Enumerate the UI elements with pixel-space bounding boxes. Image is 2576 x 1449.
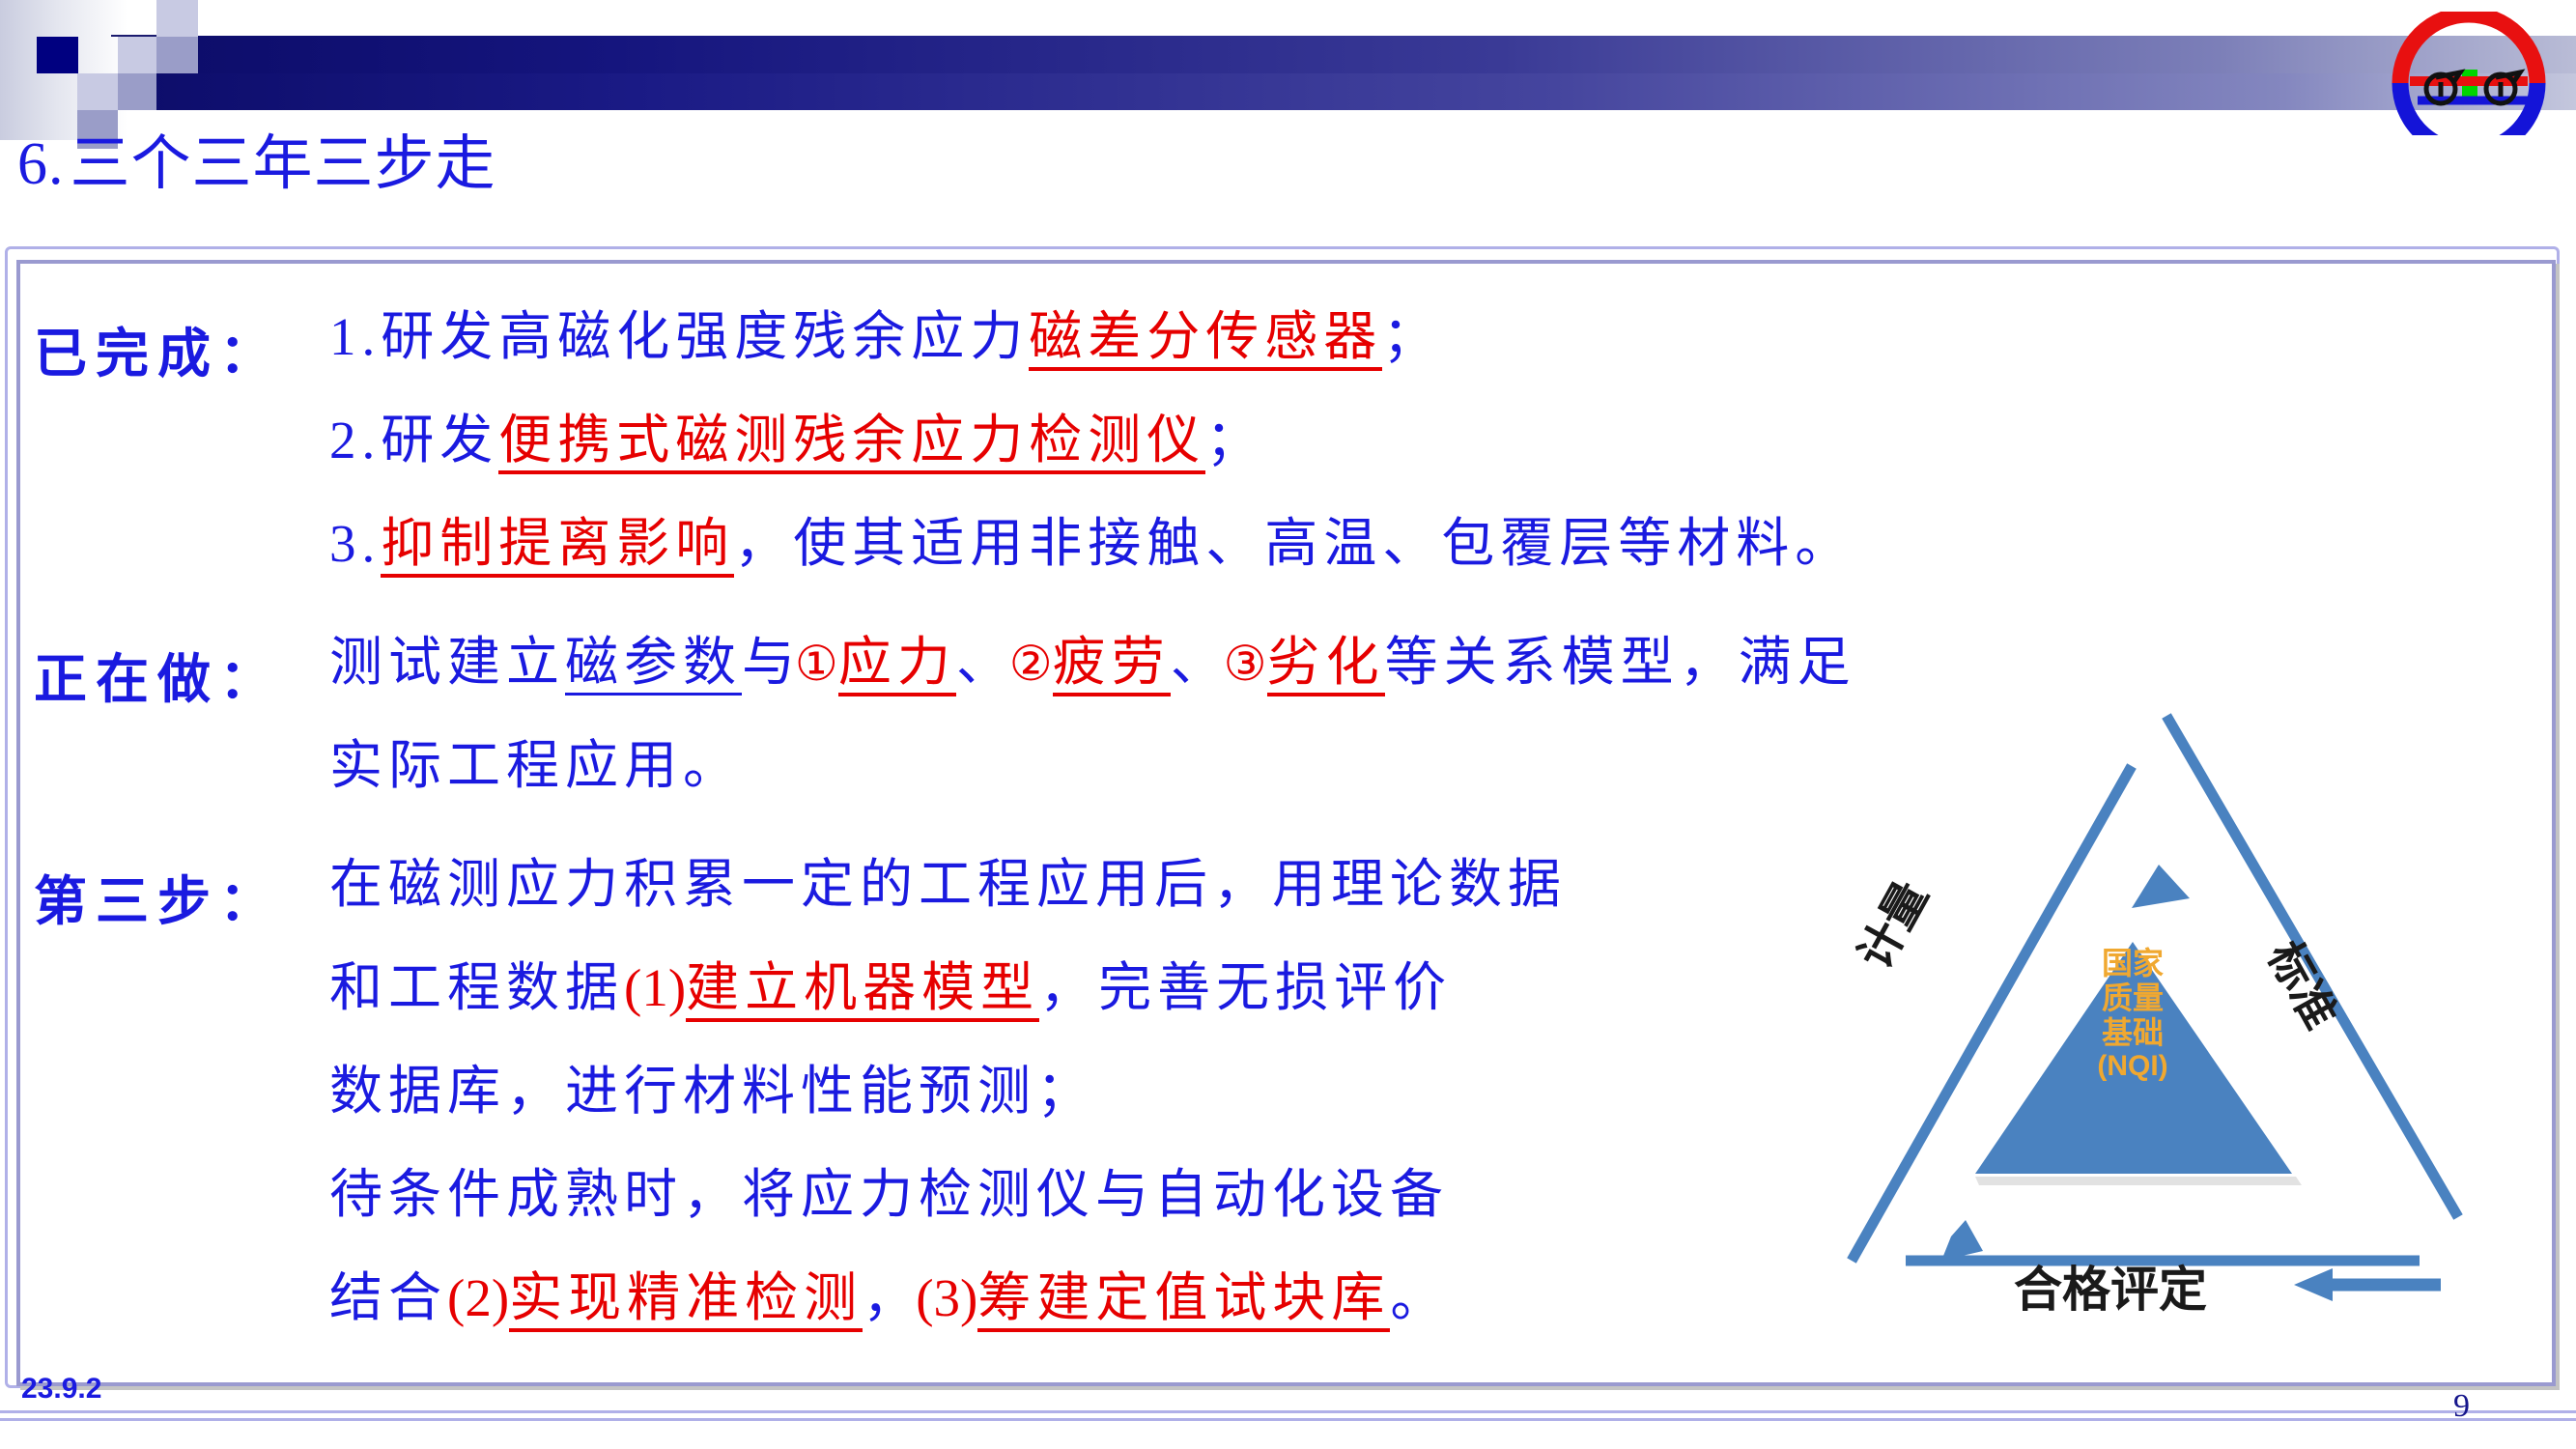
header-square-navy [37, 37, 78, 73]
ongoing-item-1: 应力 [838, 633, 956, 696]
institute-emblem-logo [2383, 12, 2555, 135]
step3-marker-1: (1) [624, 958, 686, 1017]
nqi-triangle-diagram: 计量 标准 合格评定 国家 质量 基础 (NQI) [1792, 710, 2468, 1309]
ongoing-circle-2-icon: ② [1009, 636, 1053, 692]
step3-marker-3: (3) [916, 1268, 977, 1327]
completed-line-2-punct: ； [1205, 411, 1259, 469]
ongoing-circle-1-icon: ① [795, 636, 838, 692]
ongoing-line-1: 测试建立磁参数与①应力、②疲劳、③劣化等关系模型，满足 [329, 636, 1856, 689]
ongoing-sep-2: 、 [1171, 633, 1224, 692]
footer-page-number: 9 [2453, 1388, 2470, 1425]
header-square-light-a [118, 37, 156, 73]
ongoing-item-3: 劣化 [1267, 633, 1385, 696]
step3-comma: ， [863, 1268, 916, 1327]
footer-rule-top [0, 1410, 2576, 1413]
header-square-light-b [77, 73, 118, 110]
arrow-down-right-icon [2132, 865, 2190, 908]
completed-line-1-text-a: 研发高磁化强度残余应力 [381, 307, 1029, 366]
step3-highlight-1: 建立机器模型 [686, 958, 1039, 1022]
step3-highlight-2: 实现精准检测 [509, 1268, 863, 1332]
ongoing-item-2: 疲劳 [1053, 633, 1171, 696]
step3-line-2-text-b: ，完善无损评价 [1039, 958, 1452, 1017]
section-label-ongoing: 正在做： [34, 636, 281, 713]
completed-line-3-index: 3. [329, 514, 381, 573]
nqi-core-line-3: 基础 [2012, 1016, 2253, 1051]
completed-line-1-index: 1. [329, 307, 381, 366]
step3-marker-2: (2) [447, 1268, 509, 1327]
step3-line-4-text: 待条件成熟时，将应力检测仪与自动化设备 [329, 1165, 1449, 1224]
ongoing-underline-term: 磁参数 [565, 633, 742, 696]
step3-highlight-3: 筹建定值试块库 [977, 1268, 1390, 1332]
completed-line-1-punct: ； [1382, 307, 1435, 366]
nqi-core-line-2: 质量 [2012, 981, 2253, 1016]
slide-title-text: 三个三年三步走 [71, 131, 496, 197]
header-gradient-bar-lower [147, 73, 2576, 110]
completed-line-3-text: ，使其适用非接触、高温、包覆层等材料。 [734, 514, 1854, 573]
step3-line-3: 数据库，进行材料性能预测； [329, 1065, 1095, 1118]
ongoing-text-a: 测试建立 [329, 633, 565, 692]
step3-line-1-text: 在磁测应力积累一定的工程应用后，用理论数据 [329, 855, 1567, 914]
header-square-medium-b [118, 73, 156, 110]
step3-line-1: 在磁测应力积累一定的工程应用后，用理论数据 [329, 858, 1567, 911]
completed-line-2-highlight: 便携式磁测残余应力检测仪 [498, 411, 1205, 474]
step3-line-2-text-a: 和工程数据 [329, 958, 624, 1017]
header-square-light-top [156, 0, 198, 37]
completed-line-1-highlight: 磁差分传感器 [1029, 307, 1382, 371]
completed-line-2-text-a: 研发 [381, 411, 498, 469]
ongoing-sep-1: 、 [956, 633, 1009, 692]
ongoing-circle-3-icon: ③ [1224, 636, 1267, 692]
completed-line-2: 2.研发便携式磁测残余应力检测仪； [329, 413, 1259, 467]
completed-line-2-index: 2. [329, 411, 381, 469]
step3-line-5-text-a: 结合 [329, 1268, 447, 1327]
arrow-up-left-icon [1941, 1220, 1983, 1261]
slide-title: 6.三个三年三步走 [17, 114, 496, 201]
completed-line-3-highlight: 抑制提离影响 [381, 514, 734, 578]
section-label-step3: 第三步： [34, 858, 281, 935]
ongoing-line-2: 实际工程应用。 [329, 739, 742, 792]
completed-line-3: 3.抑制提离影响，使其适用非接触、高温、包覆层等材料。 [329, 517, 1854, 570]
completed-line-1: 1.研发高磁化强度残余应力磁差分传感器； [329, 310, 1435, 363]
header-square-medium-a [156, 37, 198, 73]
nqi-core-line-4: (NQI) [2012, 1050, 2253, 1083]
nqi-core-line-1: 国家 [2012, 947, 2253, 981]
section-label-completed: 已完成： [34, 310, 281, 387]
step3-period: 。 [1390, 1268, 1443, 1327]
slide-number: 6. [17, 131, 65, 197]
ongoing-line-2-text: 实际工程应用。 [329, 736, 742, 795]
step3-line-4: 待条件成熟时，将应力检测仪与自动化设备 [329, 1168, 1449, 1221]
step3-line-2: 和工程数据(1)建立机器模型，完善无损评价 [329, 961, 1452, 1014]
footer-date: 23.9.2 [21, 1373, 101, 1406]
step3-line-5: 结合(2)实现精准检测，(3)筹建定值试块库。 [329, 1271, 1443, 1324]
nqi-label-conformity: 合格评定 [2014, 1251, 2207, 1321]
ongoing-text-c: 等关系模型，满足 [1385, 633, 1856, 692]
footer-rule-bottom [0, 1418, 2576, 1421]
step3-line-3-text: 数据库，进行材料性能预测； [329, 1062, 1095, 1121]
ongoing-text-b: 与 [742, 633, 795, 692]
nqi-core-label: 国家 质量 基础 (NQI) [2012, 947, 2253, 1083]
